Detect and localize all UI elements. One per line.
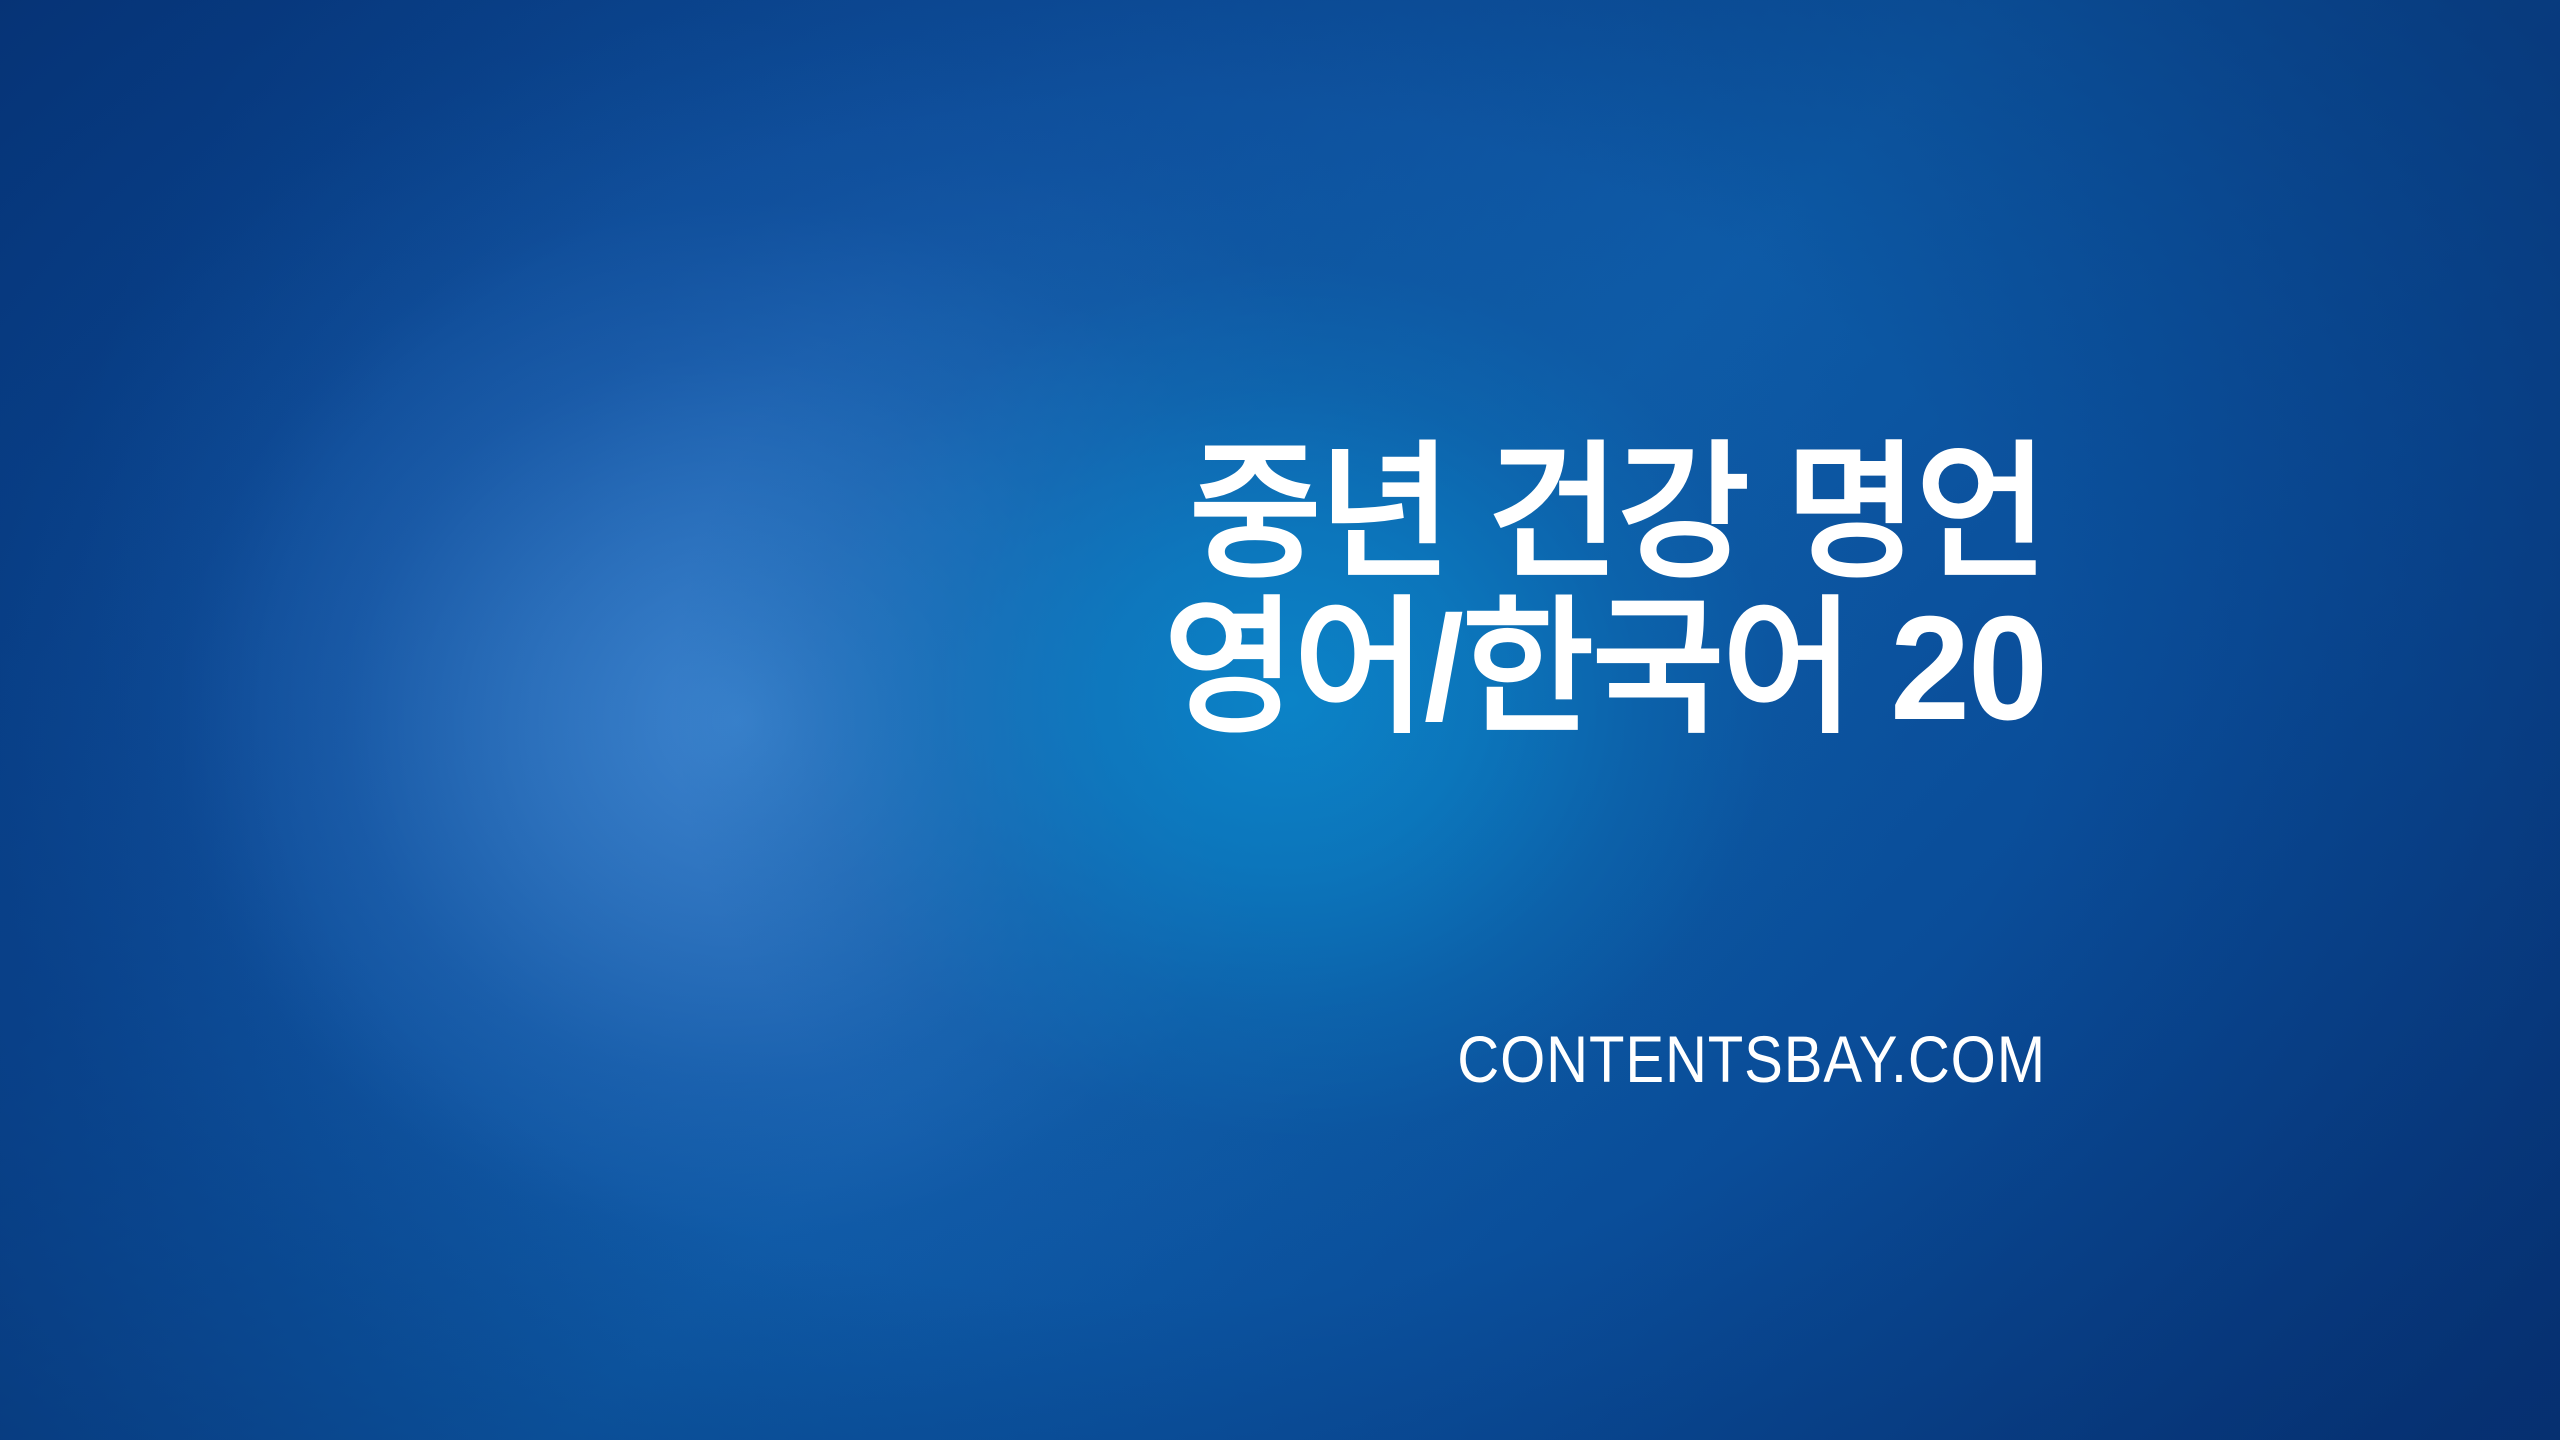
headline-line-2: 영어/한국어 20 [61, 591, 2046, 746]
headline-line-1: 중년 건강 명언 [61, 436, 2046, 591]
headline-title: 중년 건강 명언 영어/한국어 20 [0, 436, 2046, 746]
thumbnail-canvas: 중년 건강 명언 영어/한국어 20 CONTENTSBAY.COM [0, 0, 2560, 1440]
site-mark: CONTENTSBAY.COM [246, 1026, 2046, 1092]
